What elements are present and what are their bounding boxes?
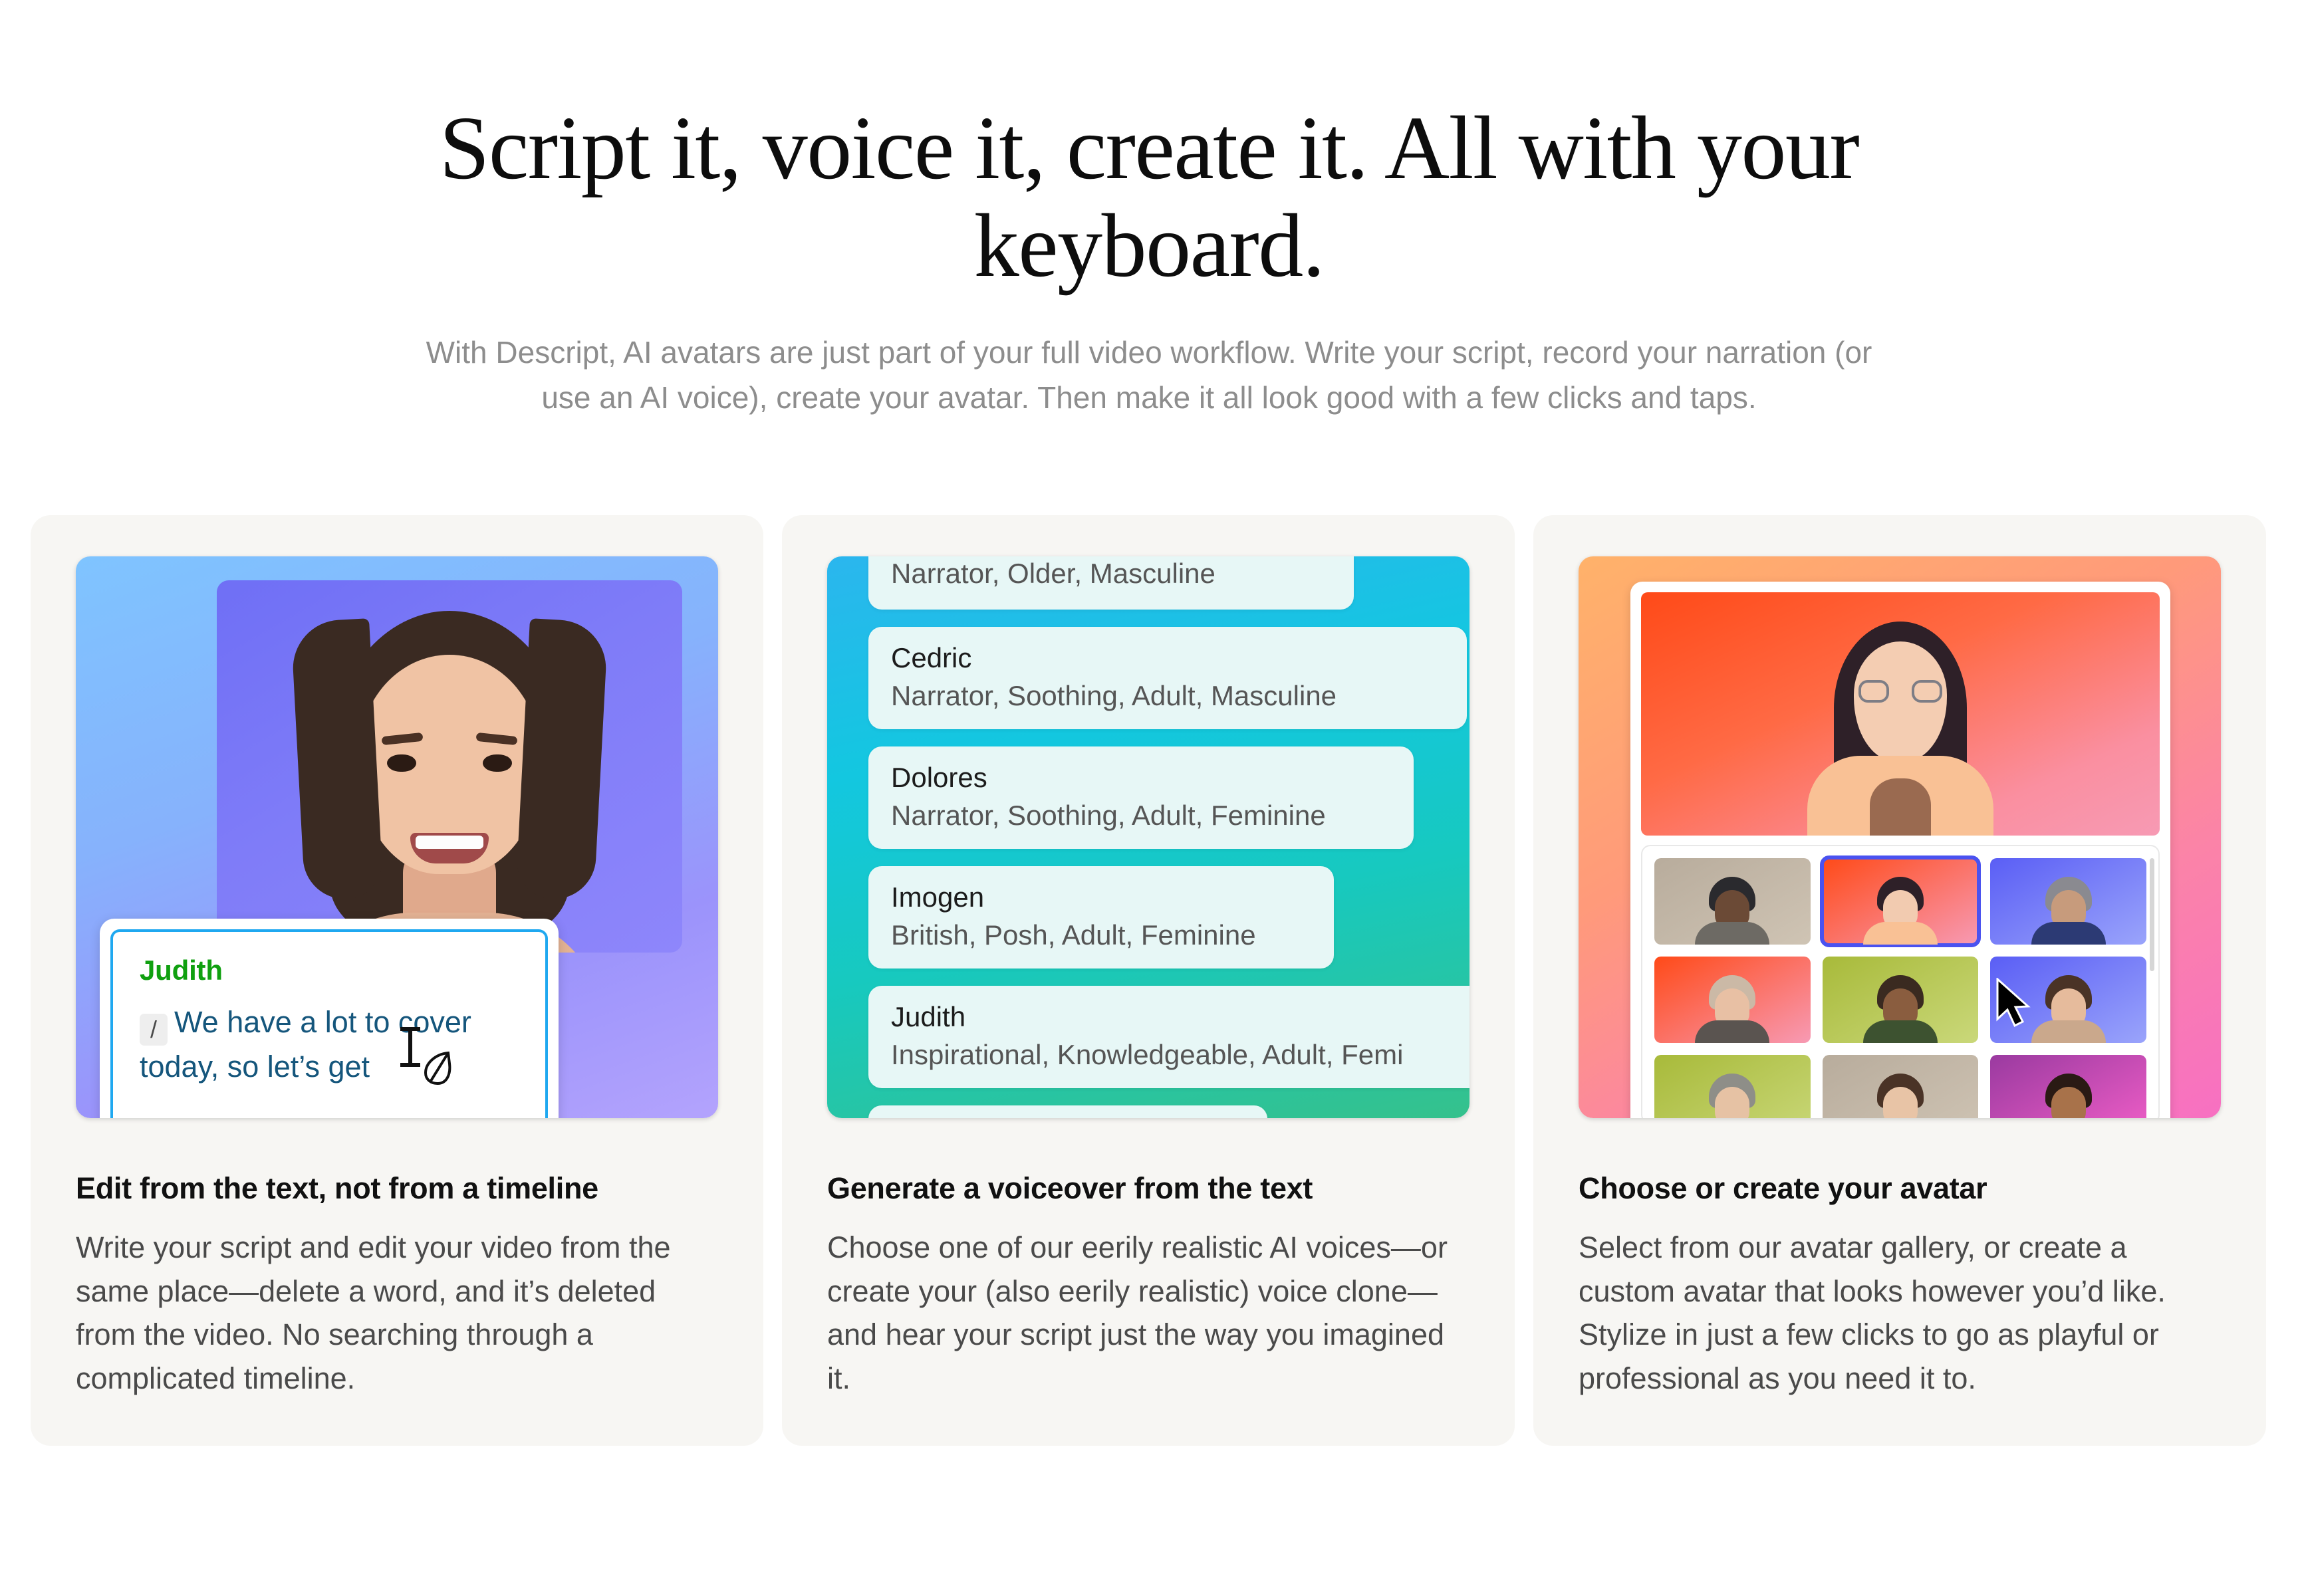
voice-name: Dolores [891, 761, 1391, 794]
avatar-tile-face [1883, 1087, 1918, 1118]
feature-card-avatar-chooser: Choose or create your avatar Select from… [1533, 515, 2266, 1446]
avatar-tile[interactable] [1823, 858, 1979, 945]
voice-list-item[interactable]: Dolores Narrator, Soothing, Adult, Femin… [868, 746, 1414, 849]
avatar-tile-body [1695, 922, 1769, 945]
avatar-gallery-illustration [1579, 556, 2221, 1118]
avatar-app-window [1630, 582, 2170, 1118]
avatar-tile-body [2031, 922, 2106, 945]
avatar-tile[interactable] [1654, 1055, 1811, 1118]
avatar-tile[interactable] [1990, 1055, 2146, 1118]
voice-list-item[interactable]: Lawrence [868, 1105, 1267, 1118]
avatar-tile[interactable] [1654, 858, 1811, 945]
cursor-group [399, 1026, 422, 1071]
avatar-tile[interactable] [1823, 957, 1979, 1043]
voice-list-item[interactable]: Narrator, Older, Masculine [868, 556, 1354, 610]
slash-key-badge: / [140, 1014, 168, 1046]
feature-card-voiceover: Narrator, Older, Masculine Cedric Narrat… [782, 515, 1515, 1446]
voice-name: Imogen [891, 881, 1311, 914]
voice-list-item[interactable]: Cedric Narrator, Soothing, Adult, Mascul… [868, 627, 1467, 729]
avatar-tile[interactable] [1823, 1055, 1979, 1118]
avatar-tile-body [1863, 922, 1938, 945]
avatar-tile-face [1715, 1087, 1749, 1118]
page-title: Script it, voice it, create it. All with… [401, 100, 1897, 295]
avatar-tile-body [1695, 1020, 1769, 1043]
page-root: Script it, voice it, create it. All with… [0, 0, 2298, 1596]
feature-card-script-editing: Judith /We have a lot to cover today, so… [31, 515, 763, 1446]
preview-glasses-icon [1858, 680, 1942, 703]
card-body: Select from our avatar gallery, or creat… [1579, 1226, 2221, 1401]
avatar-tile[interactable] [1990, 858, 2146, 945]
text-ibeam-cursor-icon [399, 1026, 422, 1068]
voice-list[interactable]: Narrator, Older, Masculine Cedric Narrat… [827, 556, 1469, 1118]
avatar-mouth [410, 833, 489, 863]
avatar-hair-left [291, 618, 384, 901]
voice-list-item[interactable]: Imogen British, Posh, Adult, Feminine [868, 866, 1334, 969]
avatar-eye-right [483, 754, 512, 772]
voice-tags: Narrator, Soothing, Adult, Feminine [891, 798, 1391, 834]
avatar-tile-face [2051, 1087, 2086, 1118]
gallery-scrollbar[interactable] [2150, 858, 2154, 971]
card-caption: Choose or create your avatar Select from… [1579, 1171, 2221, 1401]
page-subtitle: With Descript, AI avatars are just part … [421, 330, 1877, 420]
voice-tags: Narrator, Soothing, Adult, Masculine [891, 679, 1444, 714]
card-caption: Generate a voiceover from the text Choos… [827, 1171, 1469, 1401]
script-editor-panel: Judith /We have a lot to cover today, so… [100, 919, 559, 1118]
card-body: Write your script and edit your video fr… [76, 1226, 718, 1401]
voice-tags: Narrator, Older, Masculine [891, 556, 1331, 592]
card-body: Choose one of our eerily realistic AI vo… [827, 1226, 1469, 1401]
speaker-label: Judith [140, 955, 519, 986]
preview-undershirt [1870, 778, 1931, 836]
voice-name: Judith [891, 1000, 1468, 1034]
card-title: Generate a voiceover from the text [827, 1171, 1469, 1206]
hero-section: Script it, voice it, create it. All with… [0, 0, 2298, 420]
avatar-tile-grid[interactable] [1654, 858, 2146, 1118]
quill-feather-icon [422, 1050, 452, 1085]
script-editor-textarea[interactable]: Judith /We have a lot to cover today, so… [110, 929, 548, 1118]
card-caption: Edit from the text, not from a timeline … [76, 1171, 718, 1401]
avatar-tile[interactable] [1990, 957, 2146, 1043]
card-title: Edit from the text, not from a timeline [76, 1171, 718, 1206]
feature-card-row: Judith /We have a lot to cover today, so… [31, 515, 2267, 1446]
voice-list-item-selected[interactable]: Judith Inspirational, Knowledgeable, Adu… [868, 986, 1469, 1088]
voice-picker-illustration: Narrator, Older, Masculine Cedric Narrat… [827, 556, 1469, 1118]
avatar-eye-left [387, 754, 416, 772]
avatar-tile[interactable] [1654, 957, 1811, 1043]
avatar-tile-body [1863, 1020, 1938, 1043]
avatar-hair-right [515, 618, 608, 901]
voice-tags: Inspirational, Knowledgeable, Adult, Fem… [891, 1038, 1468, 1073]
voice-tags: British, Posh, Adult, Feminine [891, 918, 1311, 953]
script-text-line[interactable]: /We have a lot to cover today, so let’s … [140, 1001, 519, 1088]
avatar-tile-body [2031, 1020, 2106, 1043]
card-title: Choose or create your avatar [1579, 1171, 2221, 1206]
avatar-teeth [416, 836, 483, 849]
avatar-gallery[interactable] [1641, 845, 2160, 1118]
avatar-preview [1641, 592, 2160, 836]
voice-name: Cedric [891, 641, 1444, 675]
avatar-video-frame [217, 580, 682, 953]
script-editor-illustration: Judith /We have a lot to cover today, so… [76, 556, 718, 1118]
